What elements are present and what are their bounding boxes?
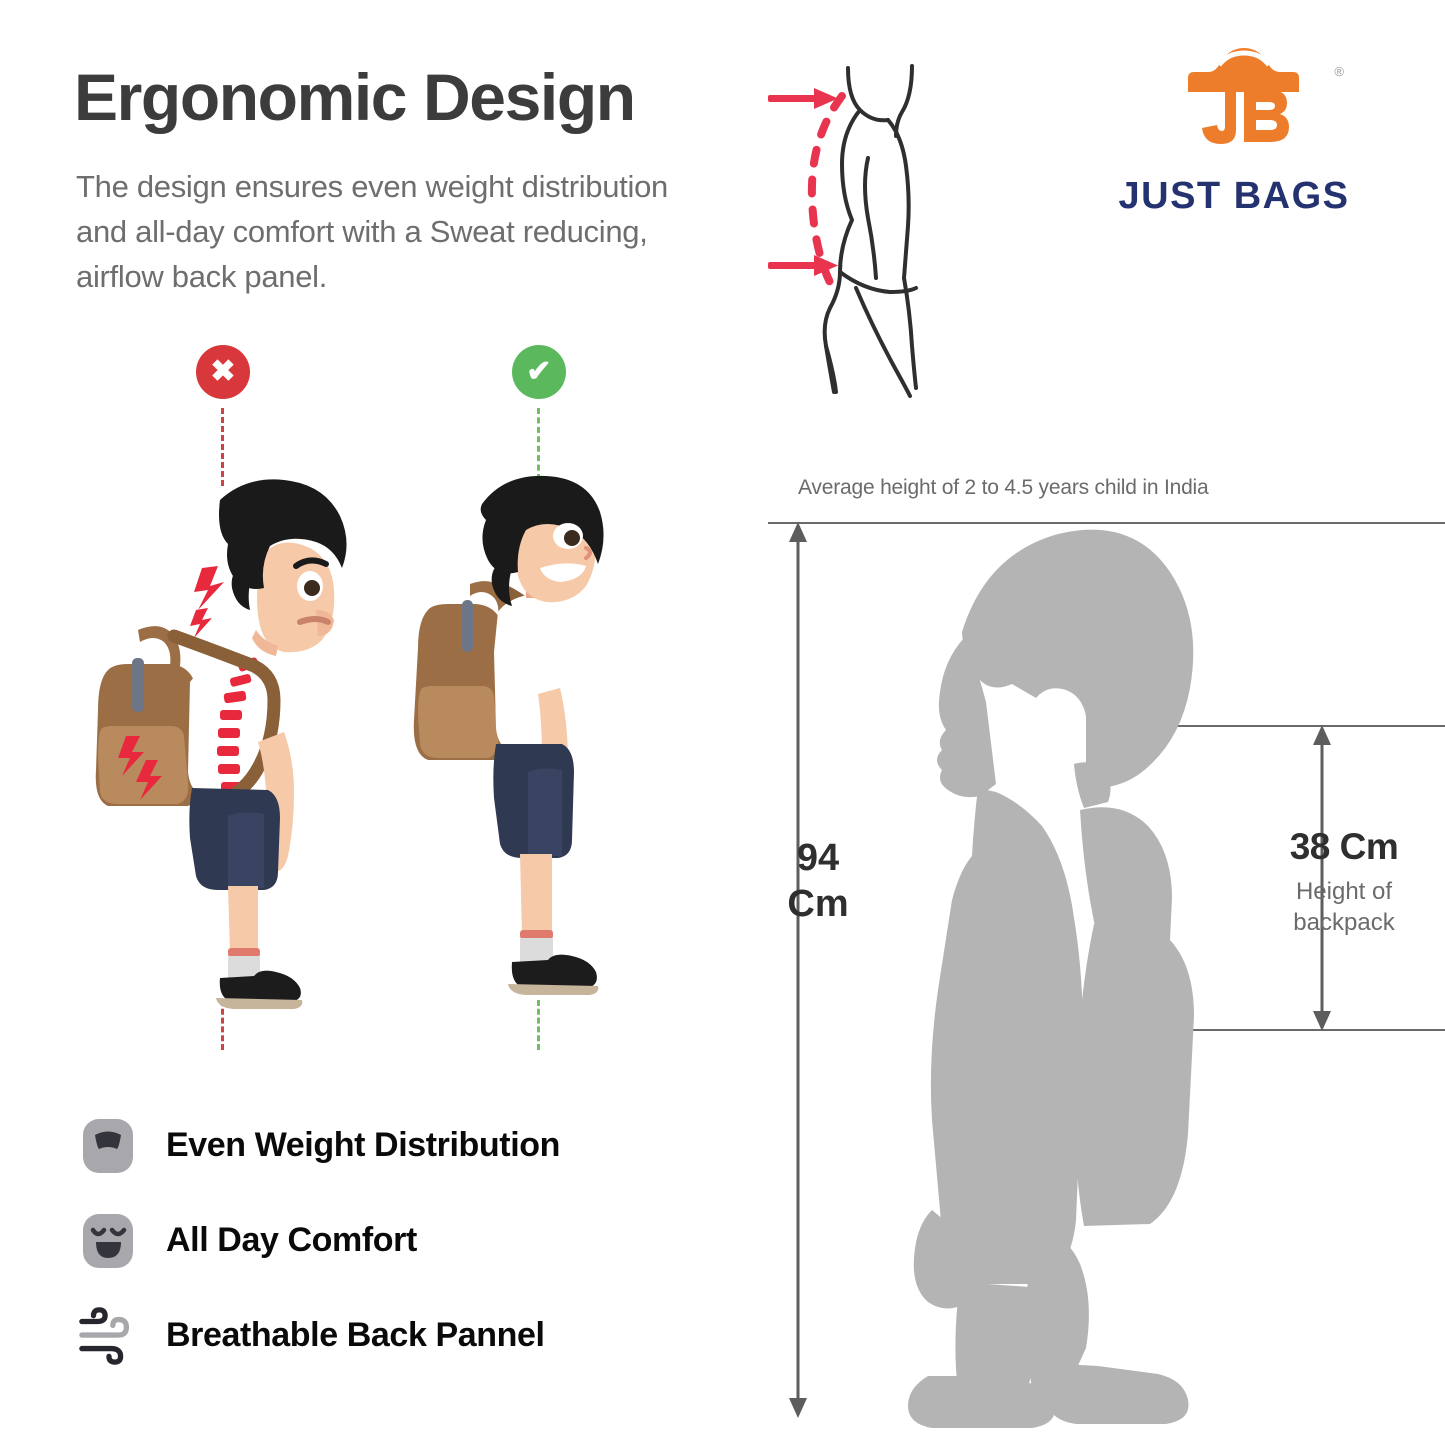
feature-label: Breathable Back Pannel: [166, 1316, 545, 1355]
backpack-height-caption: Height ofbackpack: [1254, 876, 1434, 938]
page-title: Ergonomic Design: [74, 62, 774, 133]
brand-logo: ® JUST BAGS: [1084, 46, 1384, 216]
page-subtitle: The design ensures even weight distribut…: [76, 165, 696, 300]
posture-diagram: [756, 40, 1036, 405]
feature-item-breathable-back-pannel: Breathable Back Pannel: [78, 1288, 698, 1383]
average-height-caption: Average height of 2 to 4.5 years child i…: [798, 476, 1209, 500]
feature-list: Even Weight Distribution All Day Comfort: [78, 1098, 698, 1383]
pressure-arrow-icon: [768, 88, 838, 276]
child-height-unit: Cm: [787, 883, 848, 925]
feature-item-all-day-comfort: All Day Comfort: [78, 1193, 698, 1288]
child-silhouette: [836, 520, 1276, 1435]
shoulder-strap-icon: [78, 1116, 138, 1176]
backpack-height-value: 38 Cm: [1254, 826, 1434, 868]
brand-wordmark: JUST BAGS: [1084, 175, 1384, 218]
neck-pain-bolt-icon: [190, 566, 224, 638]
feature-item-even-weight-distribution: Even Weight Distribution: [78, 1098, 698, 1193]
upright-child-illustration: [400, 472, 670, 1033]
good-posture-guideline-top: [537, 408, 540, 480]
backpack-height-label: 38 Cm Height ofbackpack: [1254, 826, 1434, 938]
child-height-arrow: [776, 520, 824, 1425]
good-posture-check-icon: ✔: [512, 345, 566, 399]
smiling-face-icon: [78, 1211, 138, 1271]
bad-posture-cross-icon: ✖: [196, 345, 250, 399]
feature-label: All Day Comfort: [166, 1221, 417, 1260]
registered-mark: ®: [1334, 64, 1344, 79]
child-height-label: 94 Cm: [770, 835, 866, 928]
child-height-value: 94: [797, 837, 839, 879]
slouching-child-illustration: [78, 470, 378, 1035]
feature-label: Even Weight Distribution: [166, 1126, 560, 1165]
wind-airflow-icon: [78, 1306, 138, 1366]
